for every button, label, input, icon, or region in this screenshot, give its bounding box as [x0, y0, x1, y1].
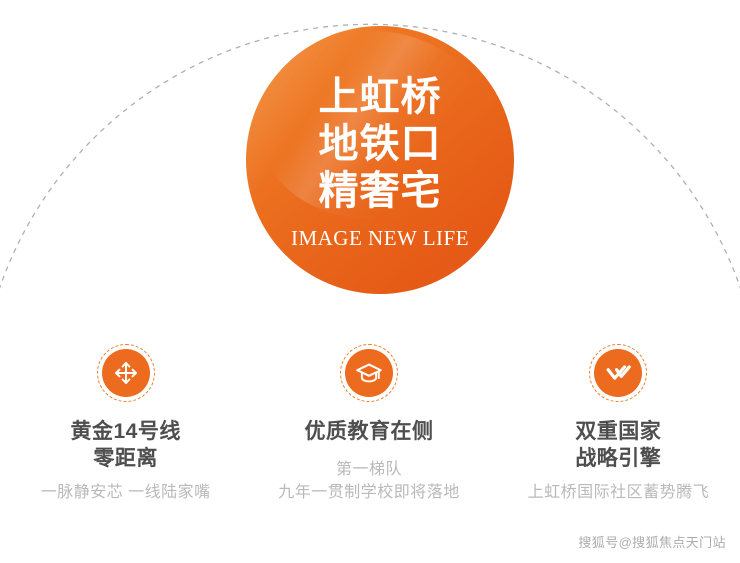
poster-root: 上虹桥 地铁口 精奢宅 IMAGE NEW LIFE [0, 0, 740, 563]
feature-desc-education: 第一梯队 九年一贯制学校即将落地 [278, 458, 460, 504]
feature-title-education: 优质教育在侧 [304, 418, 433, 445]
feature-title-strategy: 双重国家 战略引擎 [575, 418, 661, 472]
hero-tagline: IMAGE NEW LIFE [291, 226, 469, 251]
feature-title-metro-line2: 零距离 [70, 445, 180, 472]
feature-item-education: 优质教育在侧 第一梯队 九年一贯制学校即将落地 [247, 344, 490, 504]
feature-desc-education-line1: 第一梯队 [278, 458, 460, 481]
feature-desc-education-line2: 九年一贯制学校即将落地 [278, 481, 460, 504]
feature-desc-metro: 一脉静安芯 一线陆家嘴 [41, 481, 211, 504]
feature-title-metro: 黄金14号线 零距离 [70, 418, 180, 472]
feature-desc-strategy-line1: 上虹桥国际社区蓄势腾飞 [528, 481, 710, 504]
feature-item-metro: 黄金14号线 零距离 一脉静安芯 一线陆家嘴 [0, 344, 247, 504]
watermark: 搜狐号@搜狐焦点天门站 [578, 532, 726, 551]
double-check-icon [603, 358, 633, 388]
feature-title-strategy-line1: 双重国家 [575, 418, 661, 445]
feature-row: 黄金14号线 零距离 一脉静安芯 一线陆家嘴 [0, 344, 740, 504]
feature-title-strategy-line2: 战略引擎 [575, 445, 661, 472]
move-arrows-icon [111, 358, 141, 388]
hero-line-3: 精奢宅 [319, 168, 442, 215]
feature-badge-metro [97, 344, 155, 402]
feature-desc-strategy: 上虹桥国际社区蓄势腾飞 [528, 481, 710, 504]
feature-desc-metro-line1: 一脉静安芯 一线陆家嘴 [41, 481, 211, 504]
feature-item-strategy: 双重国家 战略引擎 上虹桥国际社区蓄势腾飞 [491, 344, 740, 504]
feature-badge-strategy [589, 344, 647, 402]
hero-title-block: 上虹桥 地铁口 精奢宅 [319, 74, 442, 215]
feature-title-education-line1: 优质教育在侧 [304, 418, 433, 445]
hero-line-2: 地铁口 [319, 121, 442, 168]
hero-circle: 上虹桥 地铁口 精奢宅 IMAGE NEW LIFE [246, 26, 514, 294]
feature-badge-education [340, 344, 398, 402]
hero-line-1: 上虹桥 [319, 74, 442, 121]
graduation-cap-icon [354, 358, 384, 388]
feature-title-metro-line1: 黄金14号线 [70, 418, 180, 445]
